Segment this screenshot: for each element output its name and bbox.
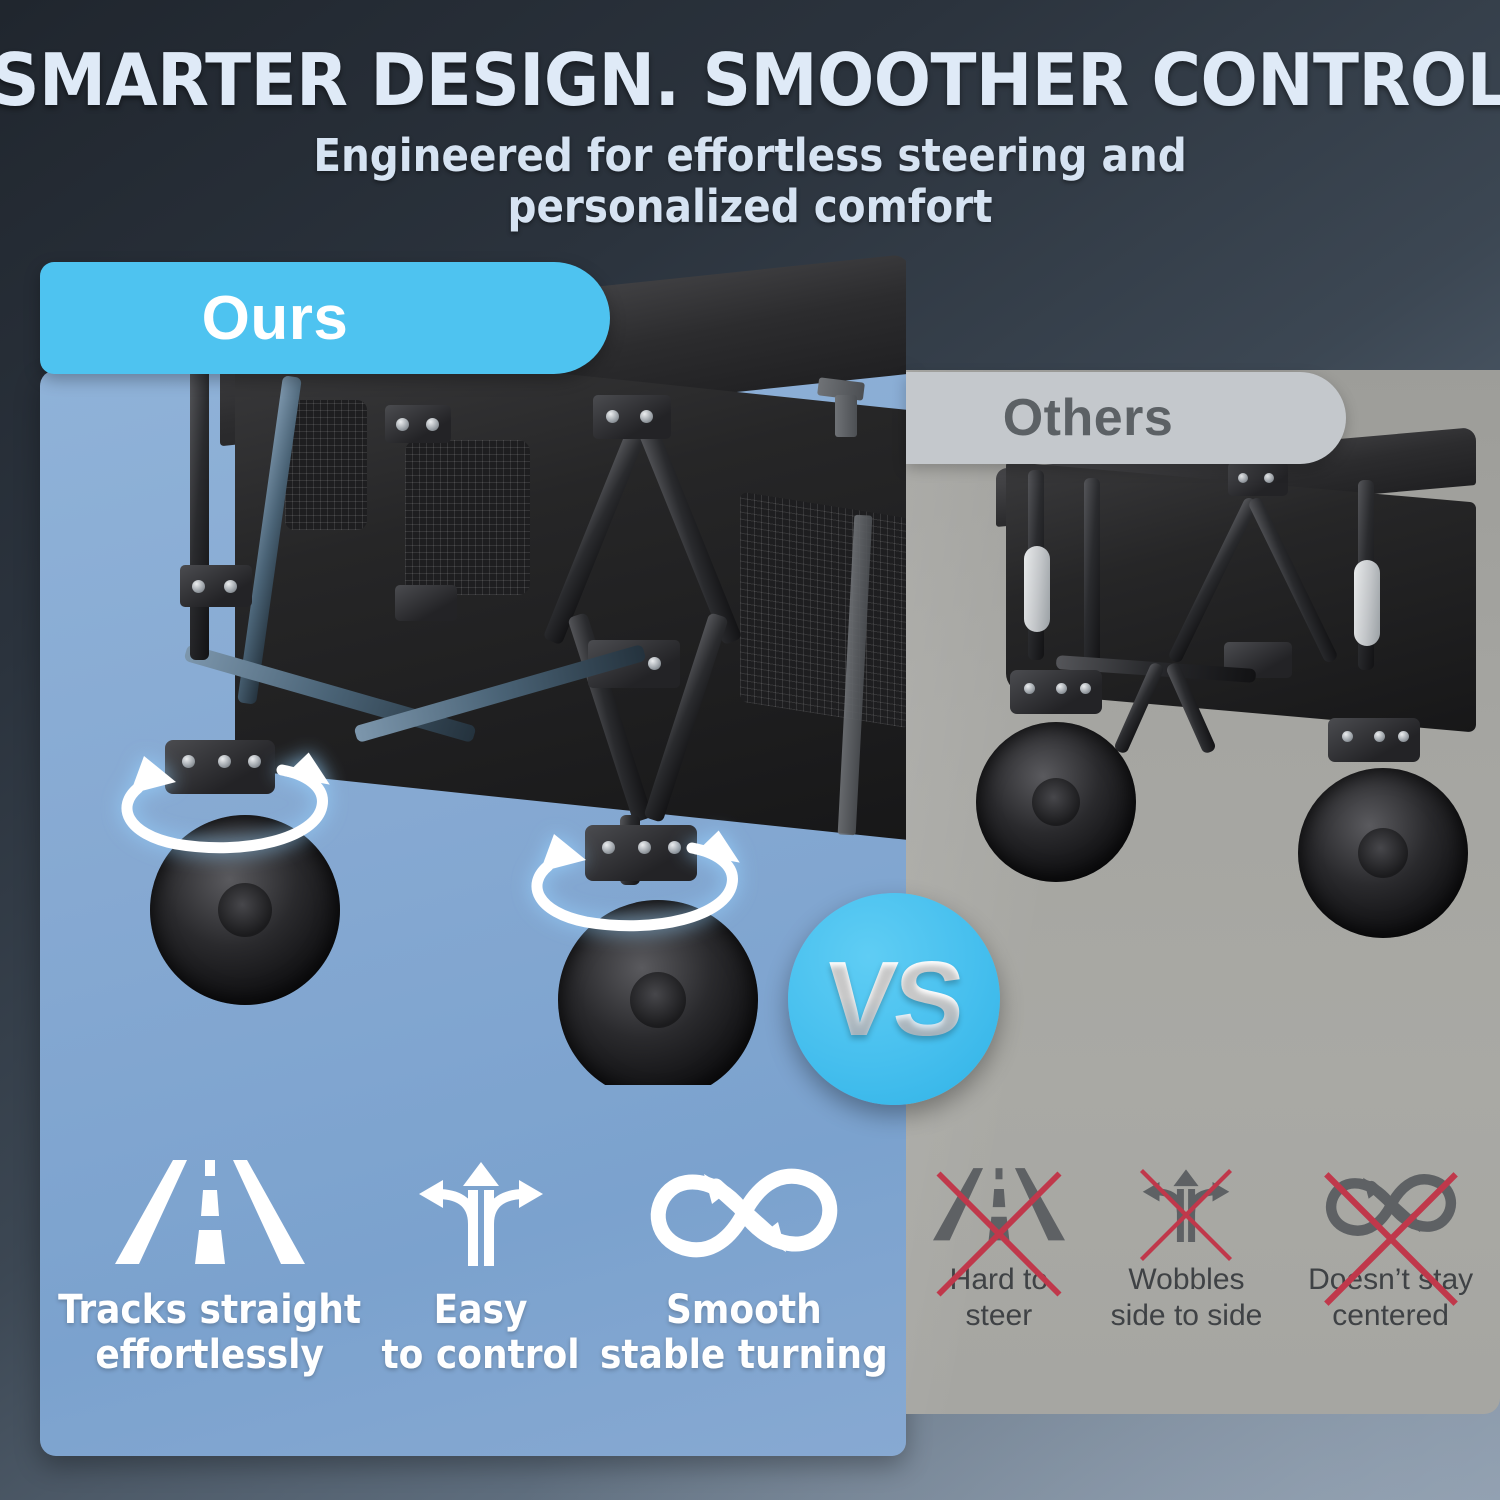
- road-perspective-icon: [115, 1160, 305, 1266]
- ours-feature-caption: Smooth stable turning: [600, 1288, 888, 1378]
- vs-label: VS: [823, 946, 966, 1052]
- caption-line-2: steer: [950, 1298, 1048, 1334]
- ours-feature-smooth-turning: Smooth stable turning: [600, 1160, 888, 1378]
- caption-line-1: Smooth: [600, 1288, 888, 1333]
- page-subtitle: Engineered for effortless steering and p…: [0, 116, 1500, 233]
- swivel-indicator-front: [96, 748, 346, 858]
- others-feature-hard-to-steer: Hard to steer: [933, 1168, 1065, 1334]
- caption-line-2: centered: [1308, 1298, 1473, 1334]
- others-feature-caption: Wobbles side to side: [1111, 1262, 1263, 1334]
- ours-feature-easy-control: Easy to control: [381, 1160, 579, 1378]
- road-perspective-icon: [933, 1168, 1065, 1242]
- caption-line-1: Tracks straight: [58, 1288, 361, 1333]
- page-title: SMARTER DESIGN. SMOOTHER CONTROL: [0, 0, 1500, 116]
- others-badge-label: Others: [1003, 388, 1174, 448]
- header: SMARTER DESIGN. SMOOTHER CONTROL Enginee…: [0, 0, 1500, 233]
- ours-feature-tracks-straight: Tracks straight effortlessly: [58, 1160, 361, 1378]
- caption-line-2: stable turning: [600, 1333, 888, 1378]
- others-feature-caption: Doesn’t stay centered: [1308, 1262, 1473, 1334]
- infinity-loop-arrow-icon: [1320, 1168, 1462, 1242]
- multi-direction-arrow-icon: [1139, 1168, 1233, 1242]
- others-product-image: [906, 370, 1500, 1070]
- swivel-indicator-rear: [508, 828, 758, 934]
- multi-direction-arrow-icon: [415, 1160, 547, 1266]
- subtitle-line-1: Engineered for effortless steering and: [0, 130, 1500, 181]
- ours-badge: Ours: [40, 262, 610, 374]
- infinity-loop-arrow-icon: [644, 1160, 844, 1266]
- ours-feature-caption: Easy to control: [381, 1288, 579, 1378]
- others-feature-list: Hard to steer: [910, 1168, 1496, 1334]
- ours-product-image: [40, 255, 906, 1085]
- caption-line-1: Wobbles: [1111, 1262, 1263, 1298]
- others-leg-grip-right: [1354, 560, 1380, 646]
- caption-line-2: side to side: [1111, 1298, 1263, 1334]
- caption-line-2: to control: [381, 1333, 579, 1378]
- infographic-stage: SMARTER DESIGN. SMOOTHER CONTROL Enginee…: [0, 0, 1500, 1500]
- ours-feature-list: Tracks straight effortlessly Easy: [48, 1160, 898, 1378]
- vs-badge: VS: [788, 893, 1000, 1105]
- others-feature-caption: Hard to steer: [950, 1262, 1048, 1334]
- others-badge: Others: [906, 372, 1346, 464]
- subtitle-line-2: personalized comfort: [0, 181, 1500, 232]
- caption-line-1: Easy: [381, 1288, 579, 1333]
- ours-feature-caption: Tracks straight effortlessly: [58, 1288, 361, 1378]
- caption-line-1: Hard to: [950, 1262, 1048, 1298]
- others-feature-not-centered: Doesn’t stay centered: [1308, 1168, 1473, 1334]
- caption-line-1: Doesn’t stay: [1308, 1262, 1473, 1298]
- side-mesh-pocket: [740, 492, 906, 729]
- caption-line-2: effortlessly: [58, 1333, 361, 1378]
- ours-badge-label: Ours: [202, 283, 349, 354]
- others-feature-wobbles: Wobbles side to side: [1111, 1168, 1263, 1334]
- others-leg-grip-left: [1024, 546, 1050, 632]
